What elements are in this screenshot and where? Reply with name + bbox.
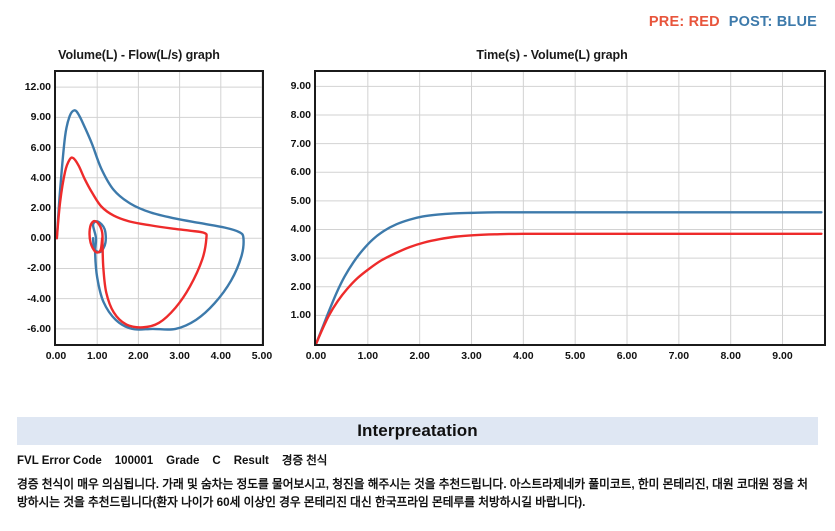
curve-pre: [316, 234, 821, 344]
x-axis-tick-label: 3.00: [169, 350, 189, 362]
y-axis-tick-label: 4.00: [291, 223, 311, 235]
curve-pre: [57, 158, 207, 328]
grade-value: C: [212, 455, 220, 467]
y-axis-tick-label: 8.00: [291, 109, 311, 121]
x-axis-tick-label: 2.00: [128, 350, 148, 362]
x-axis-tick-label: 5.00: [252, 350, 272, 362]
x-axis-tick-label: 9.00: [772, 350, 792, 362]
interpretation-header-bar: Interpreatation: [17, 417, 818, 445]
curve-post: [316, 212, 821, 344]
interpretation-body-line-1: 경증 천식이 매우 의심됩니다. 가래 및 숨차는 정도를 물어보시고, 청진을…: [17, 476, 822, 494]
y-axis-tick-label: 6.00: [31, 142, 51, 154]
x-axis-tick-label: 3.00: [461, 350, 481, 362]
y-axis-tick-label: -4.00: [27, 293, 51, 305]
grade-label: Grade: [166, 455, 199, 467]
curve-color-legend: PRE: REDPOST: BLUE: [649, 14, 817, 30]
fvl-error-code-value: 100001: [115, 455, 153, 467]
curve-post: [57, 110, 244, 329]
flow-volume-svg: [56, 72, 262, 344]
volume-time-chart-title: Time(s) - Volume(L) graph: [278, 48, 826, 62]
legend-pre-label: PRE: RED: [649, 14, 720, 30]
y-axis-tick-label: 7.00: [291, 138, 311, 150]
fvl-error-code-label: FVL Error Code: [17, 455, 102, 467]
y-axis-tick-label: 6.00: [291, 166, 311, 178]
y-axis-tick-label: 2.00: [291, 281, 311, 293]
y-axis-tick-label: 2.00: [31, 202, 51, 214]
y-axis-tick-label: 3.00: [291, 252, 311, 264]
volume-time-chart: Time(s) - Volume(L) graph 9.008.007.006.…: [278, 48, 826, 346]
x-axis-tick-label: 2.00: [409, 350, 429, 362]
y-axis-tick-label: -6.00: [27, 323, 51, 335]
x-axis-tick-label: 4.00: [513, 350, 533, 362]
x-axis-tick-label: 0.00: [306, 350, 326, 362]
flow-volume-plot-area: 12.009.006.004.002.000.00-2.00-4.00-6.00…: [54, 70, 264, 346]
flow-volume-chart-title: Volume(L) - Flow(L/s) graph: [14, 48, 264, 62]
y-axis-tick-label: 0.00: [31, 232, 51, 244]
interpretation-title: Interpreatation: [357, 421, 478, 441]
result-label: Result: [234, 455, 269, 467]
interpretation-code-line: FVL Error Code100001GradeCResult경증 천식: [17, 452, 327, 468]
x-axis-tick-label: 1.00: [358, 350, 378, 362]
y-axis-tick-label: 9.00: [291, 80, 311, 92]
interpretation-body-text: 경증 천식이 매우 의심됩니다. 가래 및 숨차는 정도를 물어보시고, 청진을…: [17, 476, 822, 511]
flow-volume-chart: Volume(L) - Flow(L/s) graph 12.009.006.0…: [14, 48, 264, 346]
y-axis-tick-label: 1.00: [291, 309, 311, 321]
x-axis-tick-label: 7.00: [669, 350, 689, 362]
x-axis-tick-label: 4.00: [211, 350, 231, 362]
y-axis-tick-label: 12.00: [25, 81, 51, 93]
y-axis-tick-label: 9.00: [31, 111, 51, 123]
x-axis-tick-label: 5.00: [565, 350, 585, 362]
legend-post-label: POST: BLUE: [729, 14, 817, 30]
volume-time-plot-area: 9.008.007.006.005.004.003.002.001.000.00…: [314, 70, 826, 346]
x-axis-tick-label: 0.00: [46, 350, 66, 362]
interpretation-body-line-2: 방하시는 것을 추천드립니다(환자 나이가 60세 이상인 경우 몬테리진 대신…: [17, 494, 822, 512]
x-axis-tick-label: 8.00: [720, 350, 740, 362]
x-axis-tick-label: 6.00: [617, 350, 637, 362]
volume-time-svg: [316, 72, 824, 344]
y-axis-tick-label: 5.00: [291, 195, 311, 207]
result-value: 경증 천식: [282, 455, 328, 467]
y-axis-tick-label: -2.00: [27, 262, 51, 274]
y-axis-tick-label: 4.00: [31, 172, 51, 184]
x-axis-tick-label: 1.00: [87, 350, 107, 362]
